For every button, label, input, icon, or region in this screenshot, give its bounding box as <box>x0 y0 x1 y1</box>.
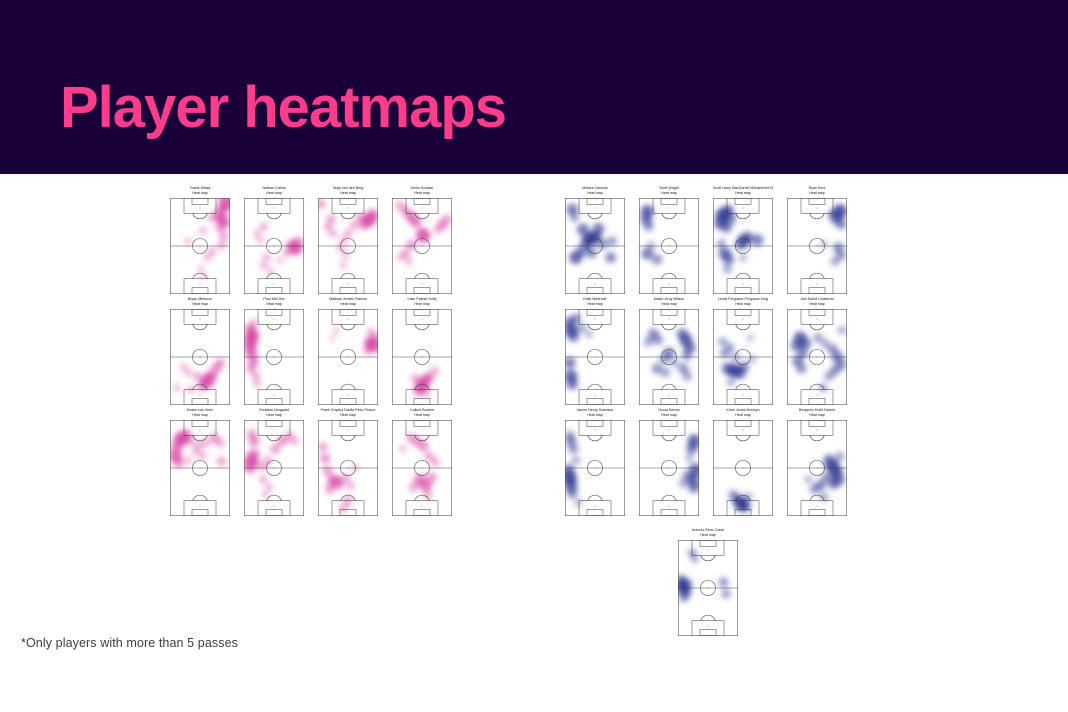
player-heatmap-card: Yoane WissaHeat map <box>170 186 230 294</box>
player-heatmap-sublabel: Heat map <box>787 413 847 418</box>
player-heatmap-card: Benjamin Keith DaviesHeat map <box>787 408 847 516</box>
pitch-diagram <box>244 309 304 405</box>
pitch-diagram <box>318 309 378 405</box>
pitch-diagram <box>565 309 625 405</box>
player-heatmap-sublabel: Heat map <box>787 191 847 196</box>
player-heatmap-sublabel: Heat map <box>565 191 625 196</box>
pitch-diagram <box>787 309 847 405</box>
pitch-diagram <box>678 540 738 636</box>
player-heatmap-title: Sepp van den BergHeat map <box>318 186 378 197</box>
player-heatmap-card: Scott WrightHeat map <box>639 186 699 294</box>
pitch-diagram <box>639 420 699 516</box>
player-heatmap-card: Ozma SerraoHeat map <box>639 408 699 516</box>
pitch-diagram <box>713 198 773 294</box>
player-heatmap-card: Liam Palmer KellyHeat map <box>392 297 452 405</box>
pitch-diagram <box>713 420 773 516</box>
player-heatmap-title: Callum BoclewHeat map <box>392 408 452 419</box>
player-heatmap-title: Yoane WissaHeat map <box>170 186 230 197</box>
player-heatmap-title: Scott WrightHeat map <box>639 186 699 197</box>
player-heatmap-sublabel: Heat map <box>244 413 304 418</box>
player-heatmap-sublabel: Heat map <box>170 191 230 196</box>
player-heatmap-card: Christian NorgaardHeat map <box>244 408 304 516</box>
player-heatmap-sublabel: Heat map <box>170 413 230 418</box>
player-heatmap-card: James Henry SwansonHeat map <box>565 408 625 516</box>
player-heatmap-sublabel: Heat map <box>639 302 699 307</box>
player-heatmap-title: Kevin SchadeHeat map <box>392 186 452 197</box>
pitch-diagram <box>392 420 452 516</box>
player-heatmap-sublabel: Heat map <box>392 302 452 307</box>
player-heatmap-card: Nathan CollinsHeat map <box>244 186 304 294</box>
player-heatmap-card: Kevin SchadeHeat map <box>392 186 452 294</box>
player-heatmap-sublabel: Heat map <box>244 302 304 307</box>
player-heatmap-card: Mathias Jensen RamosHeat map <box>318 297 378 405</box>
player-heatmap-sublabel: Heat map <box>787 302 847 307</box>
player-heatmap-card: Joel David LindstromHeat map <box>787 297 847 405</box>
player-heatmap-sublabel: Heat map <box>639 191 699 196</box>
player-heatmap-card: Antonio Rimo CobalHeat map <box>678 528 738 636</box>
player-heatmap-title: Christian NorgaardHeat map <box>244 408 304 419</box>
player-heatmap-title: James Henry SwansonHeat map <box>565 408 625 419</box>
pitch-diagram <box>170 309 230 405</box>
player-heatmap-title: Mathias Jensen RamosHeat map <box>318 297 378 308</box>
player-heatmap-card: Frank Onyeka Davila Pinto PinzonHeat map <box>318 408 378 516</box>
player-heatmap-card: Bryan MbeumoHeat map <box>170 297 230 405</box>
player-heatmap-sublabel: Heat map <box>713 302 773 307</box>
page-title: Player heatmaps <box>60 79 506 137</box>
player-heatmap-title: Nathan CollinsHeat map <box>244 186 304 197</box>
pitch-diagram <box>787 420 847 516</box>
player-heatmap-card: Lewis Ferguson Ferguson KingHeat map <box>713 297 773 405</box>
footnote: *Only players with more than 5 passes <box>21 636 238 650</box>
player-heatmap-sublabel: Heat map <box>244 191 304 196</box>
player-heatmap-title: Ozma SerraoHeat map <box>639 408 699 419</box>
player-heatmap-card: Paul McClineHeat map <box>244 297 304 405</box>
player-heatmap-sublabel: Heat map <box>639 413 699 418</box>
player-heatmap-title: Mads Leroy WilsonHeat map <box>639 297 699 308</box>
player-heatmap-title: Scott Harry MacGarvie Mohammed N'DiriHea… <box>713 186 773 197</box>
player-heatmap-sublabel: Heat map <box>318 413 378 418</box>
player-heatmap-card: Callum BoclewHeat map <box>392 408 452 516</box>
player-heatmap-sublabel: Heat map <box>565 302 625 307</box>
pitch-diagram <box>787 198 847 294</box>
player-heatmap-card: Kalin MedrodeHeat map <box>565 297 625 405</box>
player-heatmap-sublabel: Heat map <box>713 191 773 196</box>
player-heatmap-title: Antonio Rimo CobalHeat map <box>678 528 738 539</box>
pitch-diagram <box>392 309 452 405</box>
player-heatmap-sublabel: Heat map <box>392 413 452 418</box>
player-heatmap-card: Mads Leroy WilsonHeat map <box>639 297 699 405</box>
player-heatmap-sublabel: Heat map <box>318 302 378 307</box>
player-heatmap-sublabel: Heat map <box>713 413 773 418</box>
player-heatmap-sublabel: Heat map <box>565 413 625 418</box>
pitch-diagram <box>565 198 625 294</box>
player-heatmap-sublabel: Heat map <box>678 533 738 538</box>
player-heatmap-title: Khan Jones MckinynHeat map <box>713 408 773 419</box>
player-heatmap-title: Benjamin Keith DaviesHeat map <box>787 408 847 419</box>
pitch-diagram <box>170 198 230 294</box>
player-heatmap-title: Liam Palmer KellyHeat map <box>392 297 452 308</box>
pitch-diagram <box>713 309 773 405</box>
player-heatmap-title: Frank Onyeka Davila Pinto PinzonHeat map <box>318 408 378 419</box>
player-heatmap-title: Kalin MedrodeHeat map <box>565 297 625 308</box>
player-heatmap-title: Joel David LindstromHeat map <box>787 297 847 308</box>
pitch-diagram <box>639 198 699 294</box>
player-heatmap-card: Sepp van den BergHeat map <box>318 186 378 294</box>
pitch-diagram <box>639 309 699 405</box>
player-heatmap-title: Bryan MbeumoHeat map <box>170 297 230 308</box>
player-heatmap-title: Ryan KentHeat map <box>787 186 847 197</box>
player-heatmap-sublabel: Heat map <box>318 191 378 196</box>
pitch-diagram <box>392 198 452 294</box>
player-heatmap-title: Moises CaicedoHeat map <box>565 186 625 197</box>
player-heatmap-card: Moises CaicedoHeat map <box>565 186 625 294</box>
pitch-diagram <box>565 420 625 516</box>
player-heatmap-card: Khan Jones MckinynHeat map <box>713 408 773 516</box>
player-heatmap-title: Lewis Ferguson Ferguson KingHeat map <box>713 297 773 308</box>
player-heatmap-card: Scott Harry MacGarvie Mohammed N'DiriHea… <box>713 186 773 294</box>
player-heatmap-sublabel: Heat map <box>392 191 452 196</box>
player-heatmap-card: Keane van VeenHeat map <box>170 408 230 516</box>
pitch-diagram <box>318 198 378 294</box>
pitch-diagram <box>170 420 230 516</box>
player-heatmap-title: Paul McClineHeat map <box>244 297 304 308</box>
player-heatmap-card: Ryan KentHeat map <box>787 186 847 294</box>
pitch-diagram <box>244 198 304 294</box>
pitch-diagram <box>318 420 378 516</box>
pitch-diagram <box>244 420 304 516</box>
player-heatmap-sublabel: Heat map <box>170 302 230 307</box>
player-heatmap-title: Keane van VeenHeat map <box>170 408 230 419</box>
